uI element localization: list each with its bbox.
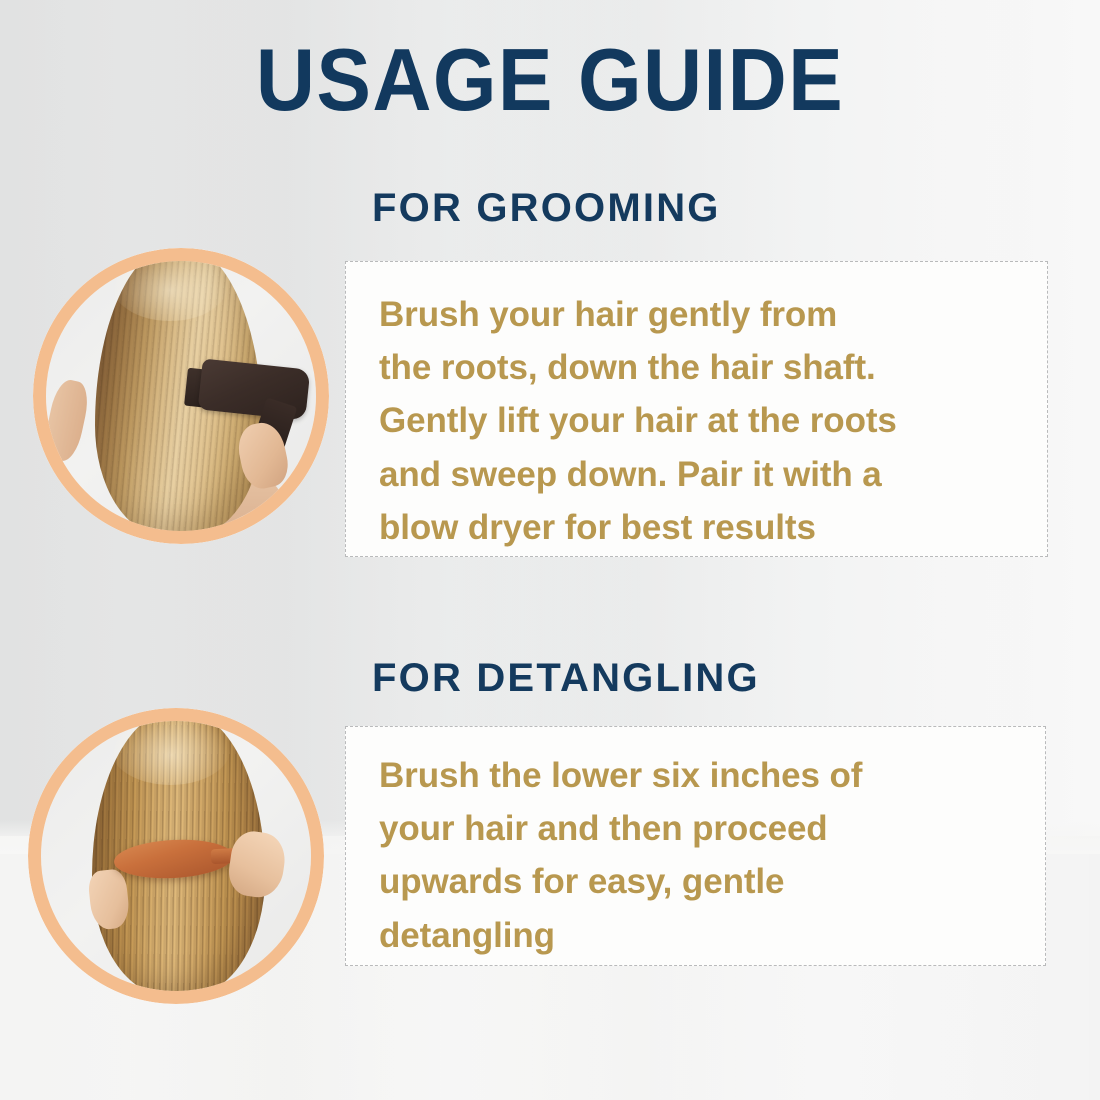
section-heading-grooming: FOR GROOMING — [372, 188, 721, 228]
instruction-text-detangling: Brush the lower six inches of your hair … — [379, 749, 1027, 962]
photo-detangling — [28, 708, 324, 1004]
photo-detangling-scene — [41, 721, 311, 991]
photo-grooming-scene — [46, 261, 316, 531]
page-title: USAGE GUIDE — [39, 36, 1062, 124]
left-arm-shape — [46, 377, 92, 464]
photo-grooming — [33, 248, 329, 544]
instruction-box-detangling: Brush the lower six inches of your hair … — [345, 726, 1046, 966]
instruction-box-grooming: Brush your hair gently from the roots, d… — [345, 261, 1048, 557]
usage-guide-poster: USAGE GUIDE FOR GROOMING Brush your hair… — [0, 0, 1100, 1100]
section-heading-detangling: FOR DETANGLING — [372, 658, 760, 698]
left-hand-shape — [87, 868, 131, 931]
instruction-text-grooming: Brush your hair gently from the roots, d… — [379, 288, 1029, 554]
